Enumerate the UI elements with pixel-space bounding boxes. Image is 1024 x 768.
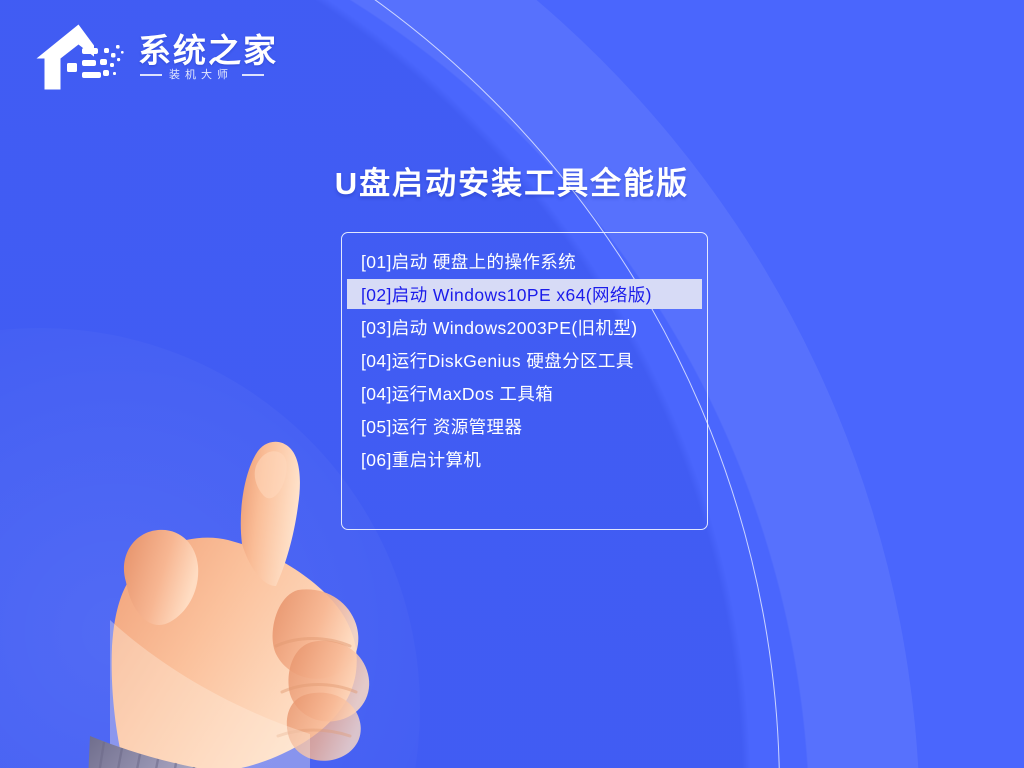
- brand-wordmark: 系统之家 装机大师: [138, 34, 278, 81]
- menu-item-label: [02]启动 Windows10PE x64(网络版): [361, 282, 652, 307]
- house-brand-logo-icon: [34, 18, 126, 96]
- menu-item-04-diskgenius[interactable]: [04]运行DiskGenius 硬盘分区工具: [342, 345, 707, 375]
- menu-item-03[interactable]: [03]启动 Windows2003PE(旧机型): [342, 312, 707, 342]
- brand-tagline: 装机大师: [138, 70, 278, 81]
- menu-item-label: [05]运行 资源管理器: [361, 414, 522, 439]
- page-title: U盘启动安装工具全能版: [0, 158, 1024, 203]
- pointing-hand-3d-icon: [60, 440, 480, 768]
- menu-item-label: [01]启动 硬盘上的操作系统: [361, 249, 576, 274]
- menu-item-04-maxdos[interactable]: [04]运行MaxDos 工具箱: [342, 378, 707, 408]
- menu-item-label: [04]运行MaxDos 工具箱: [361, 381, 553, 406]
- menu-item-05[interactable]: [05]运行 资源管理器: [342, 411, 707, 441]
- brand-tagline-text: 装机大师: [169, 70, 233, 81]
- menu-item-label: [04]运行DiskGenius 硬盘分区工具: [361, 348, 634, 373]
- menu-item-02[interactable]: [02]启动 Windows10PE x64(网络版): [347, 279, 702, 309]
- menu-item-01[interactable]: [01]启动 硬盘上的操作系统: [342, 246, 707, 276]
- tagline-rule-left-icon: [140, 74, 162, 76]
- brand-logo: 系统之家 装机大师: [34, 18, 278, 96]
- brand-name: 系统之家: [138, 34, 278, 67]
- tagline-rule-right-icon: [242, 74, 264, 76]
- menu-item-label: [03]启动 Windows2003PE(旧机型): [361, 315, 637, 340]
- boot-menu-screen: 系统之家 装机大师 U盘启动安装工具全能版 [01]启动 硬盘上的操作系统 [0…: [0, 0, 1024, 768]
